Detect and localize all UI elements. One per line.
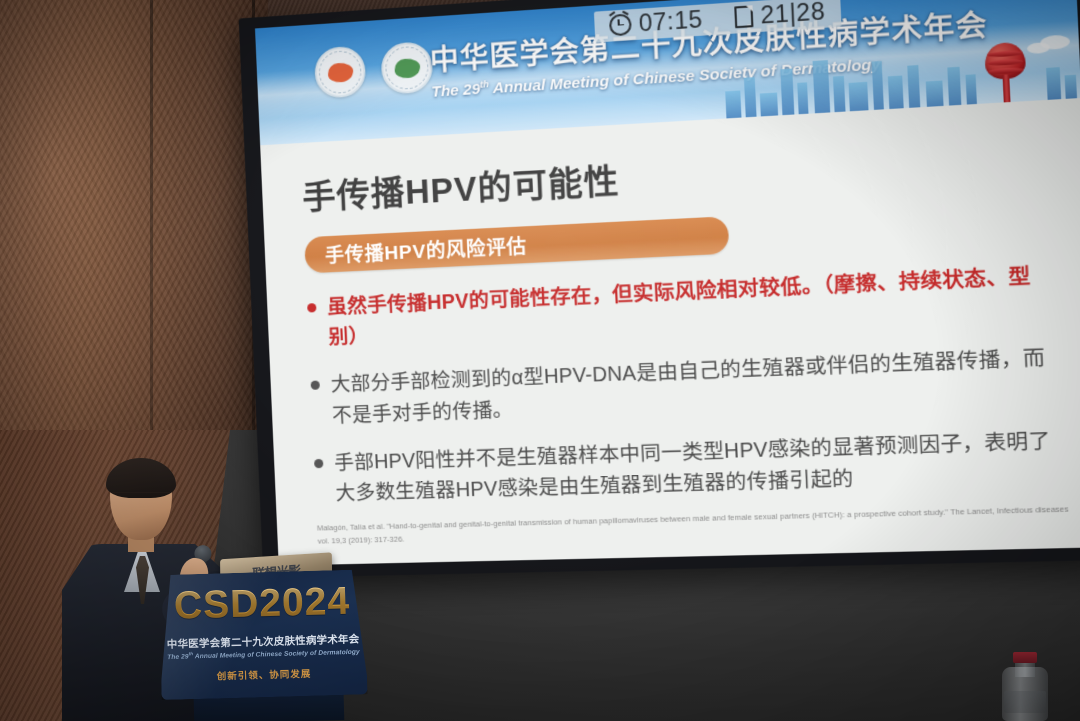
building (1065, 75, 1077, 99)
speaker-glasses (112, 492, 170, 504)
red-tower-icon (982, 37, 1030, 103)
bullet-text: 虽然手传播HPV的可能性存在，但实际风险相对较低。（摩擦、持续状态、型别） (327, 260, 1047, 353)
logo-ring (385, 45, 430, 90)
page-icon (734, 5, 753, 28)
slide-header-banner: 中华医学会第二十九次皮肤性病学术年会 The 29th Annual Meeti… (255, 0, 1080, 145)
elapsed-time-value: 07:15 (638, 8, 703, 36)
podium-logo-text: CSD2024 (169, 582, 356, 626)
slide-body: 手传播HPV的可能性 手传播HPV的风险评估 虽然手传播HPV的可能性存在，但实… (261, 128, 1080, 566)
clock-bell-right (621, 11, 629, 18)
csd-logo-icon (380, 41, 433, 95)
cma-logo-icon (314, 45, 367, 98)
building (849, 82, 869, 111)
slide-counter-value: 21|28 (760, 0, 826, 28)
clock-icon (609, 13, 632, 36)
building (833, 76, 846, 112)
bottle-cap (1013, 652, 1037, 663)
main-projection-screen: 中华医学会第二十九次皮肤性病学术年会 The 29th Annual Meeti… (239, 0, 1080, 578)
list-item: 大部分手部检测到的α型HPV-DNA是由自己的生殖器或伴侣的生殖器传播，而不是手… (310, 343, 1051, 432)
header-title-en-pre: The 29 (431, 81, 481, 101)
building (872, 61, 884, 110)
bullet-text: 大部分手部检测到的α型HPV-DNA是由自己的生殖器或伴侣的生殖器传播，而不是手… (330, 343, 1051, 431)
bullet-dot-icon (307, 303, 316, 312)
presentation-slide: 中华医学会第二十九次皮肤性病学术年会 The 29th Annual Meeti… (255, 0, 1080, 566)
building (966, 74, 977, 104)
building (760, 92, 778, 116)
podium-title-en-pre: The 29 (167, 653, 189, 661)
list-item: 手部HPV阳性并不是生殖器样本中同一类型HPV感染的显著预测因子，表明了大多数生… (314, 425, 1055, 509)
bullet-dot-icon (311, 381, 320, 390)
hud-timer: 07:15 (609, 8, 703, 38)
bottle-label (1004, 691, 1046, 713)
clock-bell-left (609, 11, 617, 19)
building (725, 91, 741, 119)
podium: 联想光影 CSD2024 中华医学会第二十九次皮肤性病学术年会 The 29th… (158, 553, 383, 721)
building (888, 76, 904, 109)
building (744, 77, 757, 117)
slide-citation: Malagón, Talía et al. "Hand-to-genital a… (317, 503, 1073, 549)
building (1046, 67, 1061, 100)
building (780, 69, 794, 116)
building (797, 82, 808, 114)
header-logos (314, 41, 434, 99)
water-bottle (1002, 652, 1048, 721)
slide-bullet-list: 虽然手传播HPV的可能性存在，但实际风险相对较低。（摩擦、持续状态、型别） 大部… (307, 260, 1055, 509)
podium-signage: CSD2024 中华医学会第二十九次皮肤性病学术年会 The 29th Annu… (158, 569, 367, 700)
screen-bezel: 中华医学会第二十九次皮肤性病学术年会 The 29th Annual Meeti… (239, 0, 1080, 578)
logo-ring (318, 50, 362, 95)
bottle-neck (1015, 661, 1035, 677)
cloud (1027, 42, 1050, 54)
list-item: 虽然手传播HPV的可能性存在，但实际风险相对较低。（摩擦、持续状态、型别） (307, 260, 1047, 354)
building (947, 67, 961, 106)
bullet-text: 手部HPV阳性并不是生殖器样本中同一类型HPV感染的显著预测因子，表明了大多数生… (334, 425, 1055, 509)
section-pill: 手传播HPV的风险评估 (304, 216, 729, 273)
bullet-dot-icon (314, 459, 323, 468)
section-pill-label: 手传播HPV的风险评估 (324, 231, 527, 268)
hud-slide-counter: 21|28 (734, 0, 826, 29)
conference-photo-scene: 手 (0, 0, 1080, 721)
slide-title: 手传播HPV的可能性 (301, 130, 1040, 219)
building (813, 60, 831, 113)
building (926, 81, 944, 107)
tower-stem (1002, 74, 1010, 102)
building (907, 65, 920, 108)
